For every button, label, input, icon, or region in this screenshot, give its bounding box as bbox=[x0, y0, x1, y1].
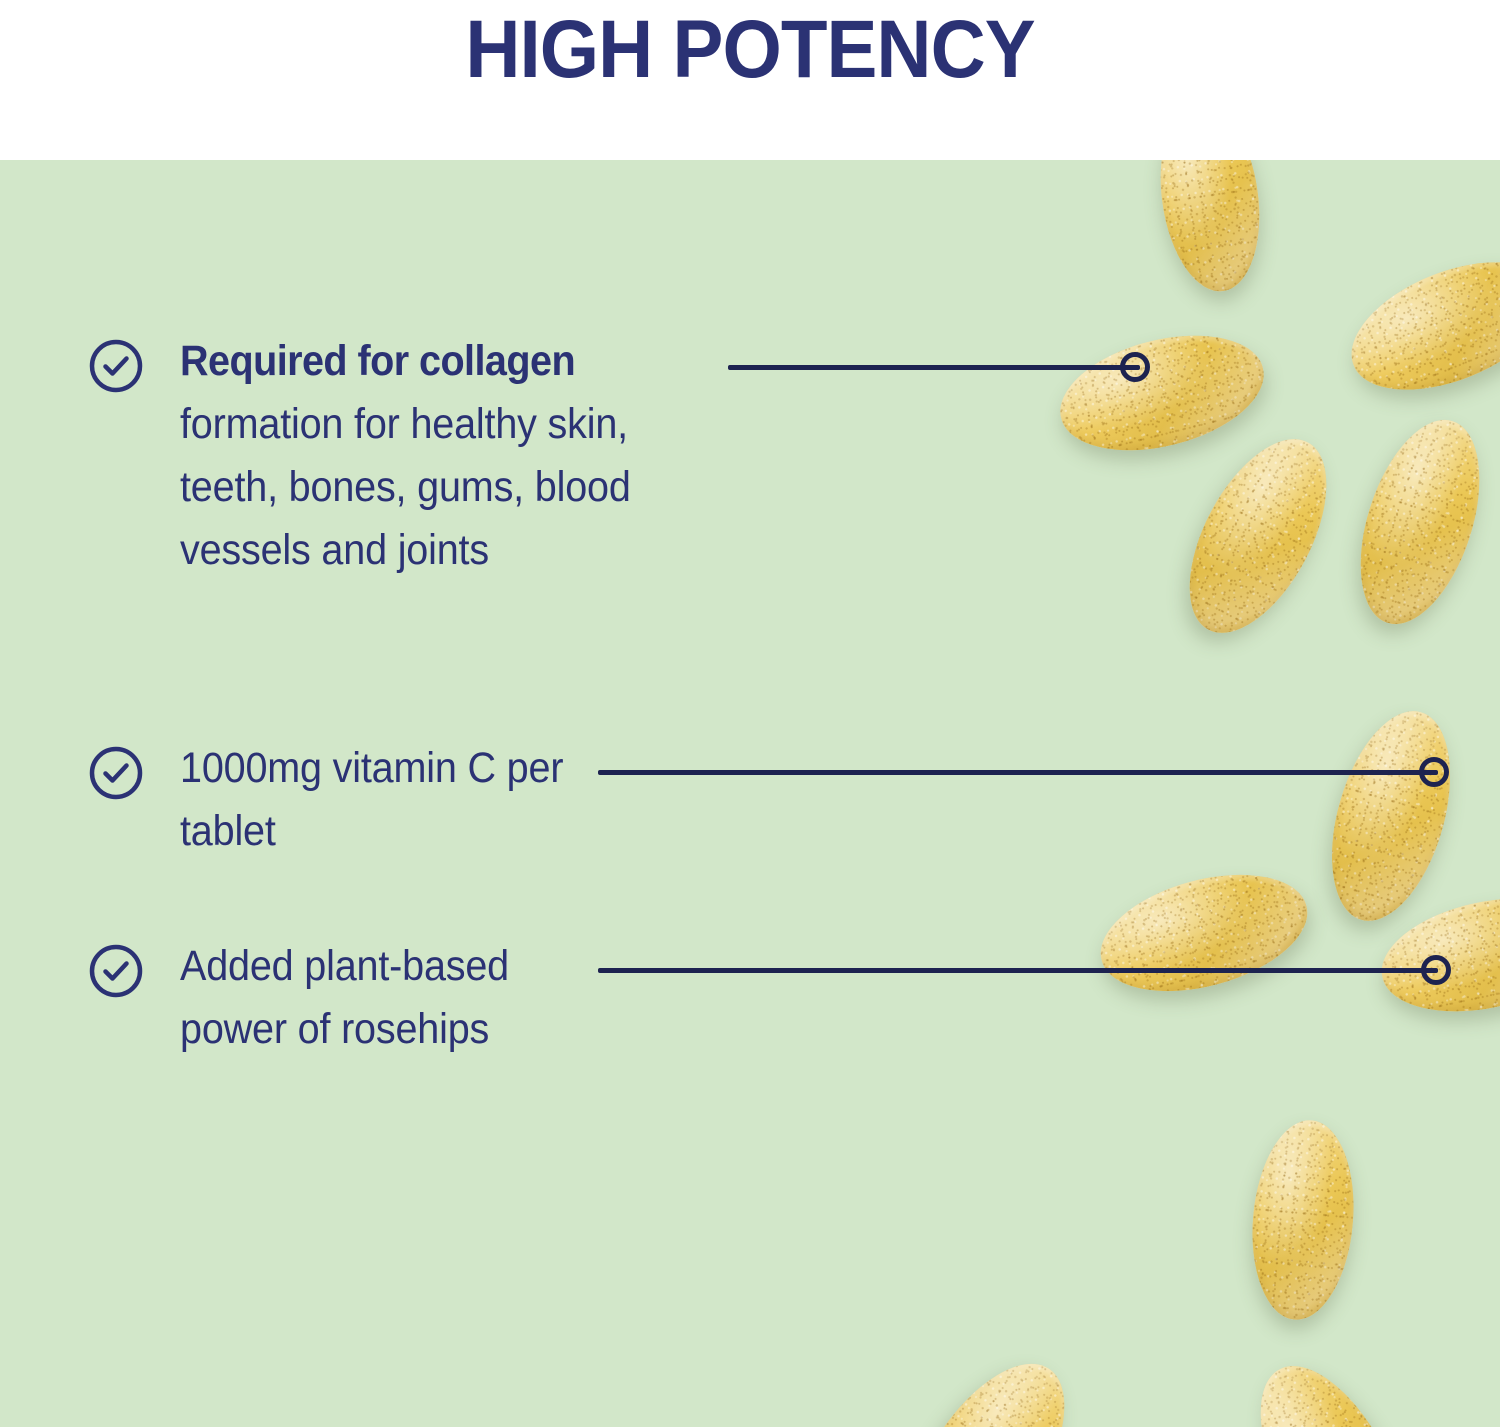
header-band: HIGH POTENCY bbox=[0, 0, 1500, 160]
leader-line-1 bbox=[728, 365, 1140, 370]
page-title: HIGH POTENCY bbox=[53, 2, 1448, 98]
tablet-2 bbox=[1333, 237, 1500, 416]
tablet-bottom-left bbox=[876, 1338, 1095, 1427]
leader-dot-3 bbox=[1421, 955, 1451, 985]
leader-dot-1 bbox=[1120, 352, 1150, 382]
tablet-1 bbox=[1048, 316, 1275, 469]
benefit-rest-3: Added plant-based power of rosehips bbox=[180, 942, 509, 1053]
benefit-bold-1: Required for collagen bbox=[180, 337, 575, 385]
benefit-text-1: Required for collagen formation for heal… bbox=[180, 330, 695, 582]
tablet-8 bbox=[1244, 1116, 1361, 1324]
benefit-rest-2: 1000mg vitamin C per tablet bbox=[180, 744, 563, 855]
benefit-text-3: Added plant-based power of rosehips bbox=[180, 935, 585, 1061]
tablet-5 bbox=[1310, 698, 1471, 935]
tablet-4 bbox=[1338, 405, 1500, 639]
circle-check-icon bbox=[88, 943, 144, 999]
tablet-6 bbox=[1088, 854, 1320, 1011]
tablet-3 bbox=[1161, 418, 1354, 655]
benefit-text-2: 1000mg vitamin C per tablet bbox=[180, 737, 576, 863]
green-background-panel: Required for collagen formation for heal… bbox=[0, 160, 1500, 1427]
circle-check-icon bbox=[88, 338, 144, 394]
tablet-top-edge bbox=[1149, 160, 1271, 298]
circle-check-icon bbox=[88, 745, 144, 801]
product-infographic: HIGH POTENCY bbox=[0, 0, 1500, 1427]
benefits-list: Required for collagen formation for heal… bbox=[0, 160, 760, 1427]
benefit-rest-1: formation for healthy skin, teeth, bones… bbox=[180, 400, 631, 574]
leader-dot-2 bbox=[1419, 757, 1449, 787]
tablet-bottom-right bbox=[1231, 1344, 1435, 1427]
